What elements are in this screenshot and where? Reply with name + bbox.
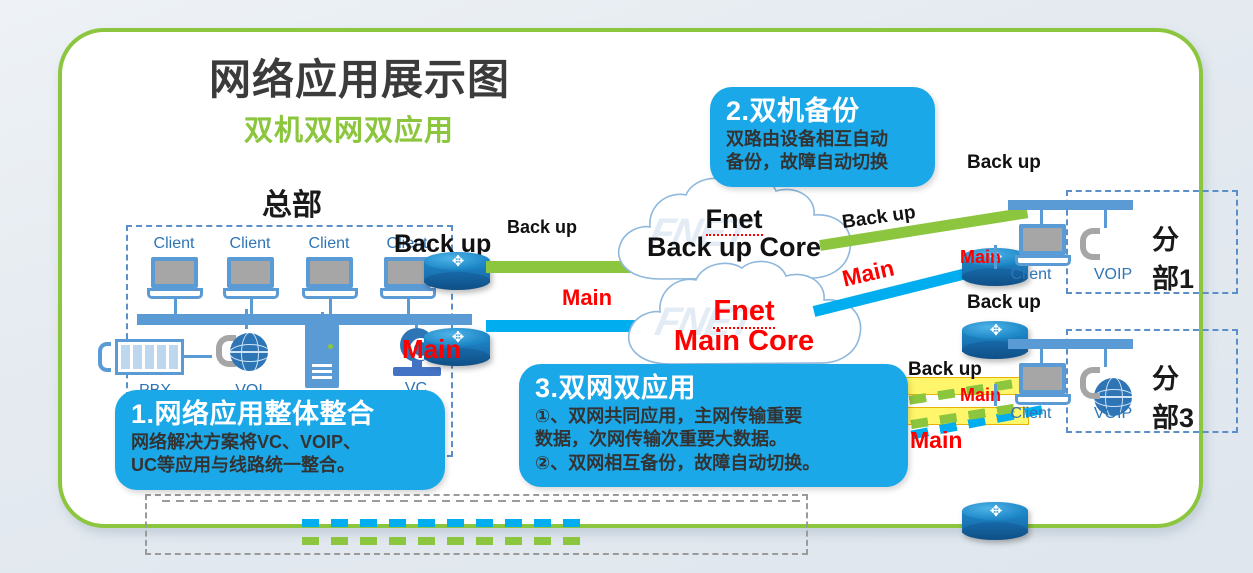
headquarters-title: 总部 xyxy=(262,180,322,224)
branch3-client-laptop[interactable] xyxy=(1015,363,1071,405)
voip-globe-icon xyxy=(230,333,268,371)
callout-3[interactable]: 3.双网双应用 ①、双网共同应用，主网传输重要 数据，次网传输次重要大数据。 ②… xyxy=(519,364,908,487)
diagram-card: 网络应用展示图 双机双网双应用 总部 Client Client Cl xyxy=(58,28,1203,528)
legend-dashed-green-line xyxy=(302,537,592,545)
branch3-router-stub xyxy=(994,384,997,406)
laptop-icon xyxy=(223,257,279,299)
callout-1[interactable]: 1.网络应用整体整合 网络解决方案将VC、VOIP、 UC等应用与线路统一整合。 xyxy=(115,390,445,490)
callout-1-title: 1.网络应用整体整合 xyxy=(131,399,429,430)
branch3-voip-label: VOIP xyxy=(1092,405,1134,422)
branch1-client-label: Client xyxy=(1010,266,1052,283)
link-core-branch3-backup-label: Back up xyxy=(908,359,982,381)
callout-2-line-1: 双路由设备相互自动 xyxy=(726,128,919,151)
pbx-rack-icon xyxy=(115,339,184,375)
laptop-icon xyxy=(302,257,358,299)
branch3-bus xyxy=(1008,339,1133,349)
cloud-main-brand: Fnet xyxy=(713,295,774,329)
server-stub xyxy=(321,312,324,324)
server-tower-icon xyxy=(305,324,339,388)
legend-dashed-blue-line xyxy=(302,519,592,527)
pbx-voip-link xyxy=(184,355,212,358)
hq-client-2-stub xyxy=(250,299,253,323)
vc-stub xyxy=(415,314,418,328)
voip-stub xyxy=(245,309,248,329)
hq-client-3-label: Client xyxy=(308,235,350,252)
page-title: 网络应用展示图 xyxy=(209,59,510,101)
hq-client-1-label: Client xyxy=(153,235,195,252)
hq-client-2-label: Client xyxy=(229,235,271,252)
callout-3-title: 3.双网双应用 xyxy=(535,373,892,404)
hq-device-server[interactable]: Serve xyxy=(305,320,339,384)
cloud-main-name: Main Core xyxy=(608,326,880,356)
hq-router-backup[interactable]: ✥ xyxy=(424,252,490,290)
legend-dotted-line xyxy=(162,500,802,502)
vc-stand xyxy=(393,367,441,376)
hq-router-main-label: Main xyxy=(402,334,461,365)
handset-icon xyxy=(1080,228,1100,260)
branch3-router-backup-label: Back up xyxy=(967,292,1041,314)
hq-device-voip[interactable]: VOI xyxy=(212,327,250,365)
diagram-stage: 网络应用展示图 双机双网双应用 总部 Client Client Cl xyxy=(62,32,1199,524)
phone-hook-icon xyxy=(98,342,111,372)
branch1-router-stub xyxy=(994,245,997,269)
handset-icon xyxy=(1080,367,1100,399)
hq-client-4-stub xyxy=(407,299,410,323)
callout-1-line-1: 网络解决方案将VC、VOIP、 xyxy=(131,431,429,454)
branch1-client-laptop[interactable] xyxy=(1015,224,1071,266)
branch1-router-backup-label: Back up xyxy=(967,152,1041,174)
callout-2[interactable]: 2.双机备份 双路由设备相互自动 备份，故障自动切换 xyxy=(710,87,935,187)
router-arrows-icon: ✥ xyxy=(962,502,1028,520)
callout-3-line-1: ①、双网共同应用，主网传输重要 xyxy=(535,405,892,428)
callout-2-line-2: 备份，故障自动切换 xyxy=(726,151,919,174)
branch1-name: 分部1 xyxy=(1152,218,1199,296)
branch3-client-label: Client xyxy=(1010,405,1052,422)
callout-3-line-2: 数据，次网传输次重要大数据。 xyxy=(535,428,892,451)
branch3-name: 分部3 xyxy=(1152,357,1199,435)
branch1-voip-stub xyxy=(1104,210,1107,228)
laptop-icon xyxy=(147,257,203,299)
page-subtitle: 双机双网双应用 xyxy=(244,117,454,146)
branch3-voip-stub xyxy=(1104,349,1107,367)
branch1-bus xyxy=(1008,200,1133,210)
link-core-branch3-main-label: Main xyxy=(910,427,962,454)
branch3-router-backup[interactable]: ✥ xyxy=(962,502,1028,540)
callout-3-line-3: ②、双网相互备份，故障自动切换。 xyxy=(535,452,892,475)
link-hq-backup-label: Back up xyxy=(507,217,577,238)
router-arrows-icon: ✥ xyxy=(424,252,490,270)
callout-2-title: 2.双机备份 xyxy=(726,96,919,127)
callout-1-line-2: UC等应用与线路统一整合。 xyxy=(131,454,429,477)
branch1-voip-label: VOIP xyxy=(1092,266,1134,283)
router-arrows-icon: ✥ xyxy=(962,321,1028,339)
hq-client-1-stub xyxy=(174,299,177,323)
